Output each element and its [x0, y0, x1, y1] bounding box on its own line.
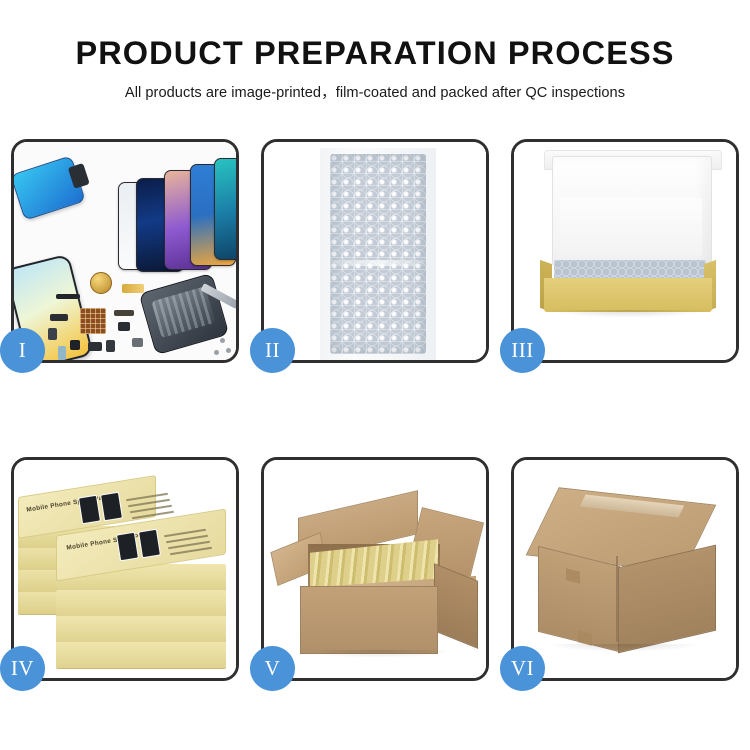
step-image-6 [514, 460, 736, 678]
stacked-boxes-illustration: Mobile Phone Spare Parts Mobile Phone Sp… [14, 460, 236, 678]
bubble-grid [330, 154, 426, 354]
box-layer [56, 590, 226, 617]
page-title: PRODUCT PREPARATION PROCESS [0, 0, 750, 70]
drop-shadow [548, 310, 708, 318]
camera-module-icon [118, 322, 130, 331]
bracket-icon [132, 338, 143, 347]
sealed-carton-illustration [514, 460, 736, 678]
wrap-seam [330, 260, 426, 266]
step-image-3 [514, 142, 736, 360]
step-image-1 [14, 142, 236, 360]
step-badge-3: III [500, 328, 545, 373]
step-panel-6: VI [511, 457, 739, 681]
phone-screen-teal-icon [214, 158, 236, 260]
phone-print-icon [100, 492, 123, 522]
earpiece-icon [56, 294, 80, 299]
inner-box-illustration [514, 142, 736, 360]
step-badge-4: IV [0, 646, 45, 691]
screw-icon [226, 348, 231, 353]
small-part-icon [48, 328, 57, 340]
header: PRODUCT PREPARATION PROCESS All products… [0, 0, 750, 102]
phone-internals-icon [139, 273, 230, 355]
box-layer [56, 642, 226, 669]
step-panel-4: Mobile Phone Spare Parts Mobile Phone Sp… [11, 457, 239, 681]
box-layer [56, 616, 226, 643]
step-badge-5: V [250, 646, 295, 691]
open-carton-illustration [264, 460, 486, 678]
screw-icon [220, 338, 225, 343]
page-subtitle: All products are image-printed，film-coat… [0, 70, 750, 102]
drop-shadow [544, 644, 704, 652]
flex-cable-icon [122, 284, 144, 293]
step-panel-2: II [261, 139, 489, 363]
vibrator-icon [88, 342, 102, 351]
phone-print-icon [138, 529, 161, 559]
phone-print-icon [78, 495, 101, 525]
bubble-wrap-illustration [264, 142, 486, 360]
speaker-module-icon [90, 272, 112, 294]
screw-icon [214, 350, 219, 355]
step-badge-1: I [0, 328, 45, 373]
circuit-board-icon [80, 308, 106, 334]
step-panel-5: V [261, 457, 489, 681]
phone-print-icon [116, 532, 139, 562]
step-panel-1: I [11, 139, 239, 363]
drop-shadow [304, 650, 454, 658]
foam-insert [560, 198, 702, 256]
phone-display-lineup [32, 152, 232, 272]
carton-corner-seam [616, 556, 618, 642]
carton-front-panel [300, 586, 438, 654]
step-panel-3: III [511, 139, 739, 363]
connector-icon [50, 314, 68, 321]
step-image-5 [264, 460, 486, 678]
phone-parts-illustration [14, 142, 236, 360]
sensor-icon [58, 346, 66, 360]
button-part-icon [70, 340, 80, 350]
flex-strip-icon [114, 310, 134, 316]
step-badge-6: VI [500, 646, 545, 691]
step-badge-2: II [250, 328, 295, 373]
step-image-2 [264, 142, 486, 360]
sim-tray-icon [106, 340, 115, 352]
process-step-grid: I II III [11, 139, 739, 681]
box-front-panel [544, 278, 712, 312]
step-image-4: Mobile Phone Spare Parts Mobile Phone Sp… [14, 460, 236, 678]
